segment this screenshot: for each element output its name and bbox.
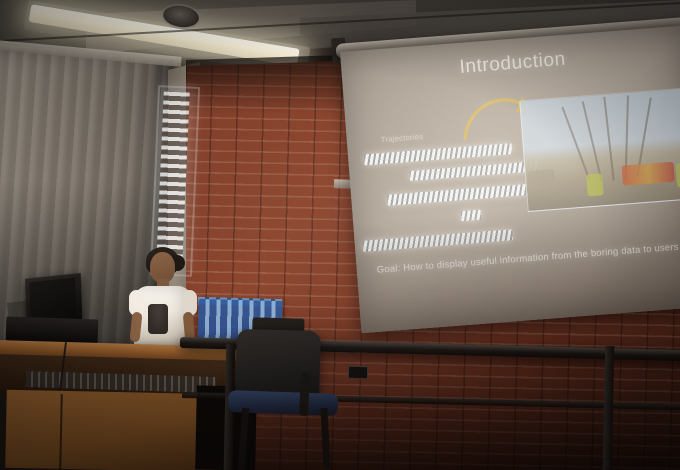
slide-bullet-label: Trajectories [380, 132, 423, 144]
redacted-text-bar [461, 210, 482, 222]
redacted-text-bar [363, 229, 513, 251]
av-equipment-box [6, 316, 99, 343]
redacted-text-bar [364, 143, 512, 165]
desk-lower-panel [5, 390, 222, 470]
tshirt-graphic [148, 304, 168, 334]
slide-title: Introduction [459, 49, 567, 79]
redacted-text-bar [387, 184, 527, 206]
redacted-text-bar [409, 161, 539, 181]
slide-photo [519, 86, 680, 212]
lecture-hall-photo: Introduction Trajectories Goal: How to d… [0, 0, 680, 470]
projection-screen: Introduction Trajectories Goal: How to d… [340, 25, 680, 333]
